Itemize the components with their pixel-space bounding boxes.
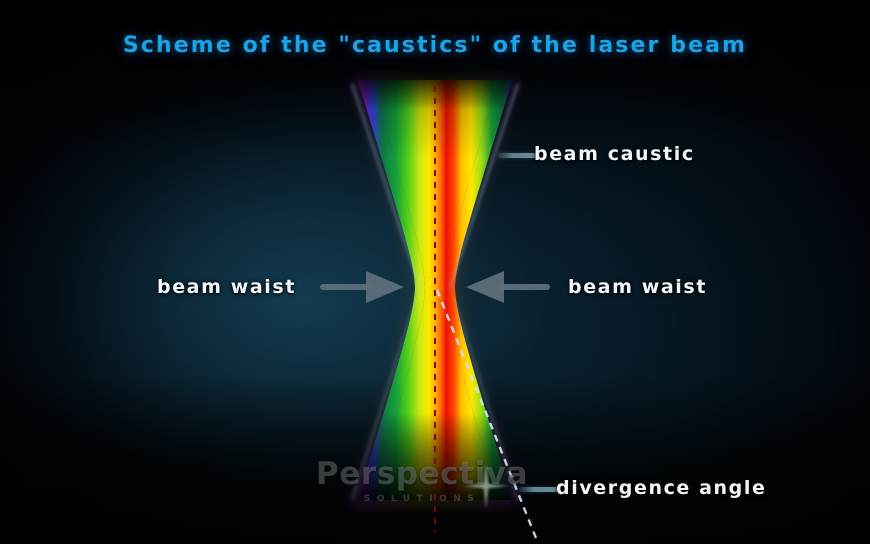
label-divergence-angle: divergence angle [556, 477, 766, 499]
label-beam-waist-left: beam waist [157, 276, 296, 298]
leader-line-beam-caustic [498, 153, 539, 158]
laser-caustics-figure: Scheme of the "caustics" of the laser be… [0, 0, 870, 544]
label-beam-waist-right: beam waist [568, 276, 707, 298]
optical-axis-line [434, 86, 436, 532]
sparkle-icon [462, 462, 510, 510]
label-beam-caustic: beam caustic [534, 143, 695, 165]
page-title: Scheme of the "caustics" of the laser be… [0, 33, 870, 58]
leader-line-divergence-angle [519, 487, 560, 492]
